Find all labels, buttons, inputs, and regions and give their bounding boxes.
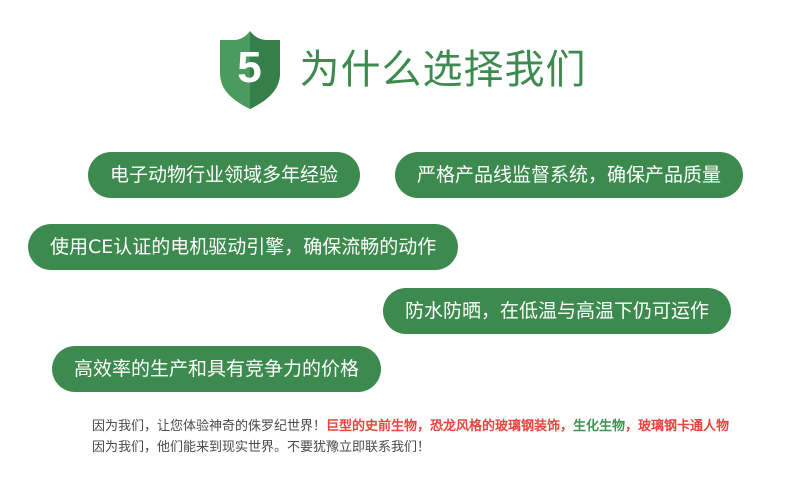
shield-badge: 5: [214, 29, 286, 111]
feature-pill-5[interactable]: 高效率的生产和具有竞争力的价格: [52, 346, 381, 392]
feature-row-4: 高效率的生产和具有竞争力的价格: [0, 346, 800, 394]
footer-text: 因为我们，让您体验神奇的侏罗纪世界！巨型的史前生物，恐龙风格的玻璃钢装饰，生化生…: [92, 416, 792, 458]
footer-line-2: 因为我们，他们能来到现实世界。不要犹豫立即联系我们！: [92, 437, 792, 458]
feature-pill-3[interactable]: 使用CE认证的电机驱动引擎，确保流畅的动作: [28, 224, 458, 270]
badge-number: 5: [214, 29, 286, 111]
footer-line2-text: 因为我们，他们能来到现实世界。不要犹豫立即联系我们！: [92, 440, 430, 455]
page-header: 5 为什么选择我们: [0, 24, 800, 116]
footer-line1-part1: 因为我们，让您体验神奇的侏罗纪世界！: [92, 419, 326, 434]
feature-row-1: 电子动物行业领域多年经验 严格产品线监督系统，确保产品质量: [0, 152, 800, 200]
footer-line1-part2: 巨型的史前生物，恐龙风格的玻璃钢装饰，: [326, 419, 573, 434]
promo-banner: 5 为什么选择我们 电子动物行业领域多年经验 严格产品线监督系统，确保产品质量 …: [0, 0, 800, 485]
page-title: 为什么选择我们: [300, 50, 587, 90]
feature-list: 电子动物行业领域多年经验 严格产品线监督系统，确保产品质量 使用CE认证的电机驱…: [0, 118, 800, 400]
footer-line-1: 因为我们，让您体验神奇的侏罗纪世界！巨型的史前生物，恐龙风格的玻璃钢装饰，生化生…: [92, 416, 792, 437]
footer-line1-part4: ，玻璃钢卡通人物: [625, 419, 729, 434]
feature-row-2: 使用CE认证的电机驱动引擎，确保流畅的动作: [0, 224, 800, 272]
footer-line1-part3: 生化生物: [573, 419, 625, 434]
feature-row-3: 防水防晒，在低温与高温下仍可运作: [0, 288, 800, 336]
feature-pill-2[interactable]: 严格产品线监督系统，确保产品质量: [395, 152, 743, 198]
feature-pill-4[interactable]: 防水防晒，在低温与高温下仍可运作: [383, 288, 731, 334]
feature-pill-1[interactable]: 电子动物行业领域多年经验: [88, 152, 360, 198]
